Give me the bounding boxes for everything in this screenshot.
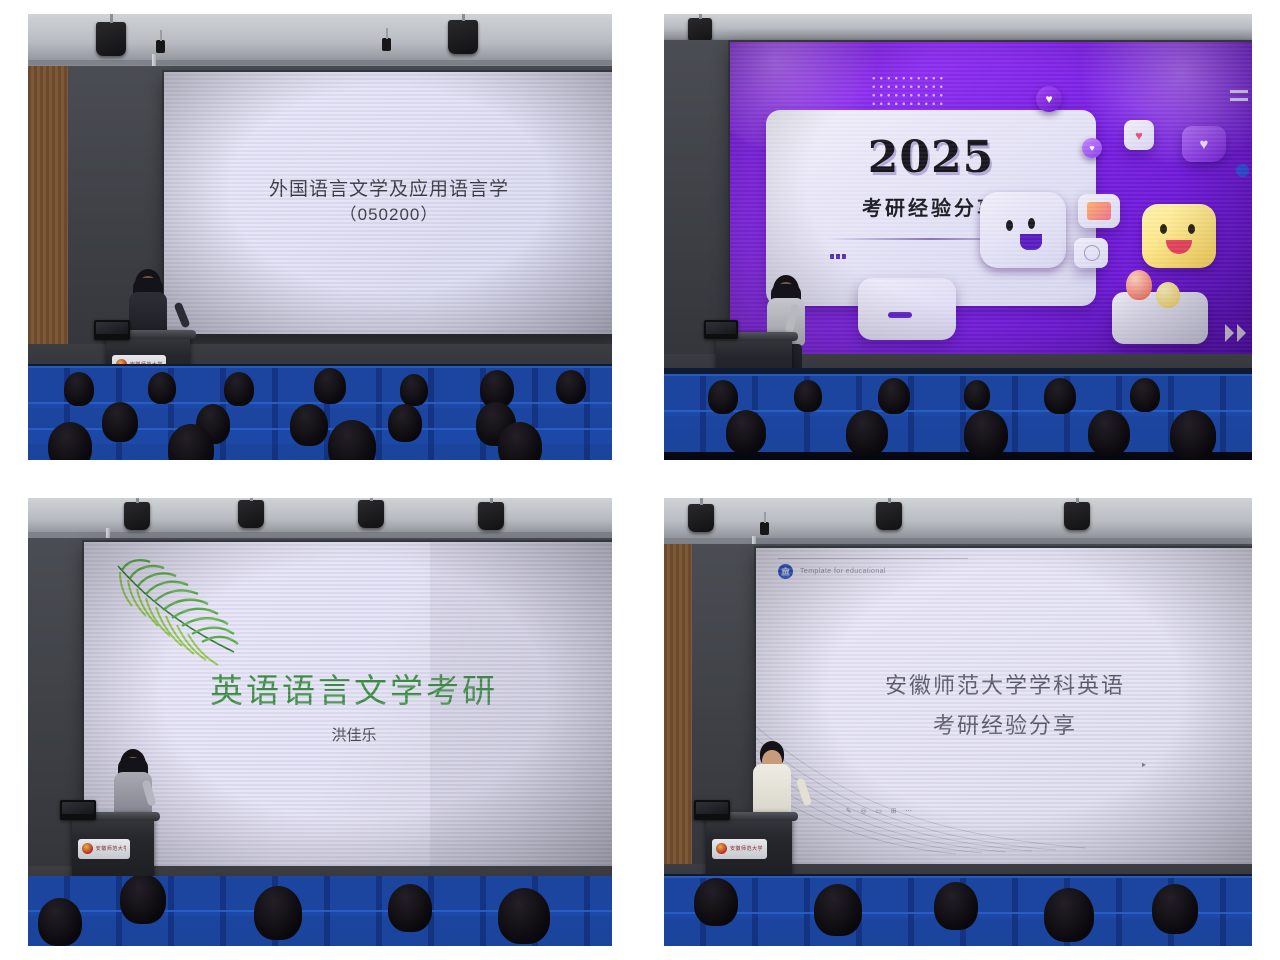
audience-head	[38, 898, 82, 946]
audience-head	[148, 372, 176, 404]
line-decor	[1230, 98, 1248, 101]
audience-head	[224, 372, 254, 406]
podium-plaque: 安徽师范大学	[712, 839, 767, 859]
ceiling-speaker-icon	[238, 500, 264, 528]
heart-card-icon: ♥	[1124, 120, 1154, 150]
photo-panel-bottom-right: 🏛 Template for educational 安徽师范大学学科英语 考研…	[664, 498, 1252, 946]
screen-icon[interactable]: ▭	[874, 806, 883, 815]
projection-screen: 🏛 Template for educational 安徽师范大学学科英语 考研…	[756, 548, 1252, 870]
ceiling-speaker-icon	[448, 20, 478, 54]
clock-card-icon	[1074, 238, 1108, 268]
slide-surface: 🏛 Template for educational 安徽师范大学学科英语 考研…	[756, 548, 1252, 870]
clock-icon	[1084, 245, 1100, 261]
audience-head	[1088, 410, 1130, 456]
projection-screen: 外国语言文学及应用语言学 （050200）	[164, 72, 612, 334]
audience-head	[1044, 888, 1094, 942]
slide-title-line1: 安徽师范大学学科英语	[756, 668, 1252, 700]
palm-frond-decor	[106, 556, 256, 676]
auditorium-scene: 英语语言文学考研 洪佳乐	[28, 498, 612, 946]
eye-icon	[1160, 224, 1167, 234]
audience-area	[28, 876, 612, 946]
audience-area	[28, 364, 612, 460]
dot-grid-decor	[870, 74, 944, 108]
university-seal-icon	[82, 843, 93, 854]
presenter-toolbar[interactable]: ✎ ◎ ▭ ⊞ ⋯	[844, 806, 913, 815]
audience-head	[934, 882, 978, 930]
audience-head	[964, 380, 990, 410]
slide-title-line2: （050200）	[164, 200, 612, 225]
photo-panel-bottom-left: 英语语言文学考研 洪佳乐	[28, 498, 612, 946]
dot-decor	[1236, 164, 1249, 177]
slide-title-line2: 考研经验分享	[756, 708, 1252, 740]
heart-badge-icon: ♥	[1082, 138, 1102, 158]
institution-icon: 🏛	[778, 564, 793, 579]
eye-icon	[858, 286, 864, 294]
slide-header-label: Template for educational	[800, 568, 886, 575]
audience-head	[1170, 410, 1216, 460]
smiley-card-small	[858, 278, 956, 340]
audience-area	[664, 874, 1252, 946]
wood-panel-wall	[664, 544, 692, 864]
slide-surface: 英语语言文学考研 洪佳乐	[84, 542, 612, 872]
mouse-cursor-icon: ▸	[1142, 760, 1148, 768]
projection-screen: 英语语言文学考研 洪佳乐	[84, 542, 612, 872]
balloon-icon	[1156, 282, 1180, 308]
audience-head	[878, 378, 910, 414]
mouth-icon	[888, 312, 912, 318]
ceiling-spotlight-icon	[156, 40, 165, 53]
auditorium-scene: 2025 考研经验分享 ♥ ♥ ♥ ♥	[664, 14, 1252, 460]
audience-head	[1044, 378, 1076, 414]
ceiling-speaker-icon	[358, 500, 384, 528]
audience-head	[102, 402, 138, 442]
media-card-icon	[1078, 194, 1120, 228]
image-icon	[1087, 202, 1111, 220]
audience-head	[726, 410, 766, 454]
audience-head	[388, 884, 432, 932]
heart-bubble-icon: ♥	[1182, 126, 1226, 162]
ceiling-spotlight-icon	[382, 38, 391, 51]
audience-head	[388, 404, 422, 442]
audience-head	[556, 370, 586, 404]
podium-plaque-text: 安徽师范大学	[96, 845, 126, 852]
mouth-icon	[1166, 240, 1192, 254]
ceiling-speaker-icon	[876, 502, 902, 530]
audience-head	[708, 380, 738, 414]
ceiling-rail	[28, 60, 612, 65]
pointer-icon[interactable]: ◎	[859, 806, 868, 815]
slide-surface: 2025 考研经验分享 ♥ ♥ ♥ ♥	[730, 42, 1252, 358]
balloon-icon	[1126, 270, 1152, 300]
audience-head	[964, 410, 1008, 458]
ceiling-speaker-icon	[96, 22, 126, 56]
grid-icon[interactable]: ⊞	[889, 806, 898, 815]
chevron-right-icon	[1225, 324, 1234, 342]
line-decor	[1230, 90, 1248, 93]
presenter-laptop	[694, 800, 730, 820]
smiley-card-yellow	[1142, 204, 1216, 268]
slide-title-line1: 外国语言文学及应用语言学	[164, 174, 612, 201]
auditorium-scene: 外国语言文学及应用语言学 （050200） 安徽师范大学	[28, 14, 612, 460]
screen-shadow	[430, 542, 612, 872]
audience-head	[1130, 378, 1160, 412]
audience-head	[400, 374, 428, 406]
slide-year: 2025	[766, 132, 1096, 183]
ceiling-speaker-icon	[1064, 502, 1090, 530]
eye-icon	[858, 278, 864, 286]
led-screen: 2025 考研经验分享 ♥ ♥ ♥ ♥	[730, 42, 1252, 358]
audience-head	[290, 404, 328, 446]
audience-head	[794, 380, 822, 412]
ceiling-speaker-icon	[478, 502, 504, 530]
ceiling-spotlight-icon	[760, 522, 769, 535]
auditorium-scene: 🏛 Template for educational 安徽师范大学学科英语 考研…	[664, 498, 1252, 946]
audience-head	[254, 886, 302, 940]
podium-plaque-text: 安徽师范大学	[730, 845, 763, 852]
mouth-icon	[1020, 234, 1042, 250]
presenter-laptop	[704, 320, 738, 339]
eye-icon	[1028, 218, 1035, 229]
audience-head	[814, 884, 862, 936]
photo-collage: 外国语言文学及应用语言学 （050200） 安徽师范大学	[0, 0, 1280, 960]
smiley-card-white	[980, 192, 1066, 268]
audience-head	[314, 368, 346, 404]
heart-icon: ♥	[1124, 120, 1154, 150]
ceiling-rail	[28, 532, 612, 537]
audience-head	[498, 888, 550, 944]
photo-panel-top-right: 2025 考研经验分享 ♥ ♥ ♥ ♥	[664, 14, 1252, 460]
more-icon[interactable]: ⋯	[904, 806, 913, 815]
heart-badge-icon: ♥	[1036, 86, 1062, 112]
dash-decor	[830, 254, 846, 259]
audience-head	[64, 372, 94, 406]
audience-head	[120, 876, 166, 924]
presenter-laptop	[60, 800, 96, 820]
slide-header: 🏛 Template for educational	[778, 564, 886, 579]
audience-head	[846, 410, 888, 456]
eye-icon	[1188, 224, 1195, 234]
eye-icon	[1006, 220, 1013, 231]
audience-head	[694, 878, 738, 926]
university-seal-icon	[716, 843, 727, 854]
chevron-right-icon	[1237, 324, 1246, 342]
pen-icon[interactable]: ✎	[844, 806, 853, 815]
presenter-laptop	[94, 320, 130, 340]
ceiling-speaker-icon	[688, 504, 714, 532]
audience-area	[664, 368, 1252, 460]
audience-head	[1152, 884, 1198, 934]
photo-panel-top-left: 外国语言文学及应用语言学 （050200） 安徽师范大学	[28, 14, 612, 460]
header-rule	[778, 558, 968, 559]
podium-plaque: 安徽师范大学	[78, 839, 130, 859]
ceiling-speaker-icon	[124, 502, 150, 530]
